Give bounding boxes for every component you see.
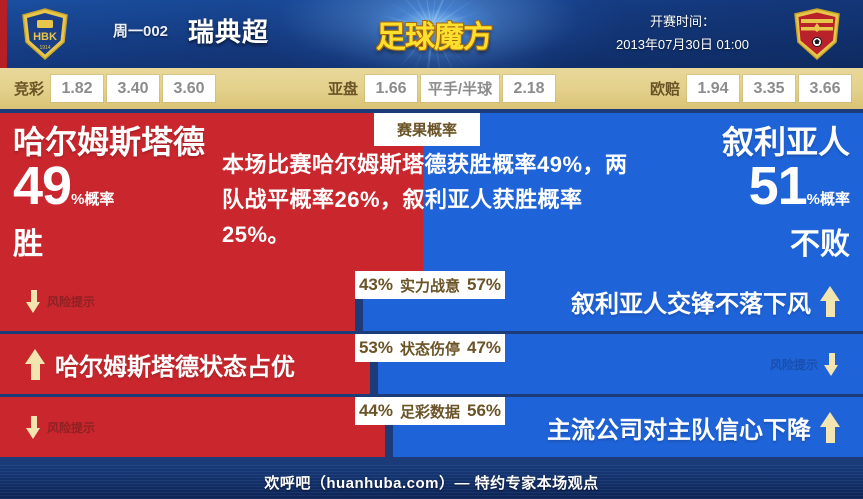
kickoff-label: 开赛时间： xyxy=(590,10,775,33)
odds-group-2: 亚盘1.66平手/半球2.18 xyxy=(328,68,559,109)
infographic-root: HBK 1914 周一002 瑞典超 足球魔方 开赛时间： 2013年07月30… xyxy=(0,0,863,499)
match-number: 周一002 xyxy=(113,20,168,41)
arrow-down-icon xyxy=(824,353,839,376)
row-home-percent: 53% xyxy=(359,338,393,358)
comparison-row: 44%足彩数据56%风险提示主流公司对主队信心下降 xyxy=(0,397,863,457)
tab-match-probability[interactable]: 赛果概率 xyxy=(374,113,480,146)
row-metric-label: 44%足彩数据56% xyxy=(355,397,505,425)
odds-value-cell[interactable]: 3.35 xyxy=(743,75,795,102)
odds-value-cell[interactable]: 平手/半球 xyxy=(421,75,499,102)
kickoff-time: 开赛时间： 2013年07月30日 01:00 xyxy=(590,10,775,56)
odds-group-1: 竞彩1.823.403.60 xyxy=(14,68,219,109)
arrow-down-icon xyxy=(26,416,41,439)
row-verdict-text: 主流公司对主队信心下降 xyxy=(547,410,811,445)
row-verdict-text: 叙利亚人交锋不落下风 xyxy=(571,284,811,319)
row-metric-name: 状态伤停 xyxy=(400,338,460,359)
row-risk-text: 风险提示 xyxy=(47,293,95,310)
comparison-row: 43%实力战意57%风险提示叙利亚人交锋不落下风 xyxy=(0,271,863,331)
row-verdict-text: 哈尔姆斯塔德状态占优 xyxy=(55,347,295,382)
hero-home-number: 49 xyxy=(13,156,71,216)
odds-bar: 竞彩1.823.403.60亚盘1.66平手/半球2.18欧赔1.943.353… xyxy=(0,68,863,109)
hero-away-block: 叙利亚人 51%概率 不败 xyxy=(630,113,850,271)
hero-home-block: 哈尔姆斯塔德 49%概率 胜 xyxy=(13,113,233,271)
hero-away-probability: 51%概率 xyxy=(630,158,850,228)
hero-summary-text: 本场比赛哈尔姆斯塔德获胜概率49%，两队战平概率26%，叙利亚人获胜概率25%。 xyxy=(222,147,642,252)
row-verdict-away: 叙利亚人交锋不落下风 xyxy=(571,284,841,319)
row-risk-home: 风险提示 xyxy=(26,416,95,439)
odds-value-cell[interactable]: 3.60 xyxy=(163,75,215,102)
row-metric-label: 53%状态伤停47% xyxy=(355,334,505,362)
row-away-percent: 56% xyxy=(467,401,501,421)
odds-group-label: 欧赔 xyxy=(650,78,680,99)
odds-value-cell[interactable]: 1.82 xyxy=(51,75,103,102)
comparison-row: 53%状态伤停47%哈尔姆斯塔德状态占优风险提示 xyxy=(0,334,863,394)
row-risk-text: 风险提示 xyxy=(770,356,818,373)
brand-logo: 足球魔方 xyxy=(373,13,495,55)
odds-group-3: 欧赔1.943.353.66 xyxy=(650,68,855,109)
row-home-percent: 44% xyxy=(359,401,393,421)
hero-away-team: 叙利亚人 xyxy=(630,122,850,162)
row-home-percent: 43% xyxy=(359,275,393,295)
svg-text:1914: 1914 xyxy=(39,45,50,51)
hero-away-result: 不败 xyxy=(630,228,850,262)
odds-value-cell[interactable]: 1.66 xyxy=(365,75,417,102)
row-away-percent: 47% xyxy=(467,338,501,358)
arrow-up-icon xyxy=(25,349,46,380)
odds-group-label: 亚盘 xyxy=(328,78,358,99)
header-accent-bar xyxy=(0,0,7,68)
comparison-rows: 43%实力战意57%风险提示叙利亚人交锋不落下风53%状态伤停47%哈尔姆斯塔德… xyxy=(0,271,863,465)
hero-away-number: 51 xyxy=(749,156,807,216)
row-verdict-home: 哈尔姆斯塔德状态占优 xyxy=(25,347,295,382)
odds-value-cell[interactable]: 2.18 xyxy=(503,75,555,102)
kickoff-value: 2013年07月30日 01:00 xyxy=(590,33,775,56)
row-risk-away: 风险提示 xyxy=(770,353,839,376)
svg-text:HBK: HBK xyxy=(33,31,57,43)
hero-home-result: 胜 xyxy=(13,228,233,262)
row-verdict-away: 主流公司对主队信心下降 xyxy=(547,410,841,445)
hero-away-pct-suffix: %概率 xyxy=(807,191,850,208)
arrow-down-icon xyxy=(26,290,41,313)
row-risk-text: 风险提示 xyxy=(47,419,95,436)
row-metric-name: 足彩数据 xyxy=(400,401,460,422)
hero-home-probability: 49%概率 xyxy=(13,158,233,228)
odds-value-cell[interactable]: 3.66 xyxy=(799,75,851,102)
footer: 欢呼吧（huanhuba.com）— 特约专家本场观点 xyxy=(0,465,863,499)
league-name: 瑞典超 xyxy=(188,12,269,49)
arrow-up-icon xyxy=(820,286,841,317)
away-team-crest-icon xyxy=(789,6,845,62)
arrow-up-icon xyxy=(820,412,841,443)
odds-group-label: 竞彩 xyxy=(14,78,44,99)
odds-value-cell[interactable]: 1.94 xyxy=(687,75,739,102)
hero-section: 哈尔姆斯塔德 49%概率 胜 叙利亚人 51%概率 不败 赛果概率 本场比赛哈尔… xyxy=(0,113,863,271)
header: HBK 1914 周一002 瑞典超 足球魔方 开赛时间： 2013年07月30… xyxy=(0,0,863,68)
row-risk-home: 风险提示 xyxy=(26,290,95,313)
row-metric-name: 实力战意 xyxy=(400,275,460,296)
hero-home-pct-suffix: %概率 xyxy=(71,191,114,208)
odds-value-cell[interactable]: 3.40 xyxy=(107,75,159,102)
home-team-crest-icon: HBK 1914 xyxy=(17,6,73,62)
footer-credit: 欢呼吧（huanhuba.com）— 特约专家本场观点 xyxy=(264,472,598,493)
row-metric-label: 43%实力战意57% xyxy=(355,271,505,299)
row-away-percent: 57% xyxy=(467,275,501,295)
